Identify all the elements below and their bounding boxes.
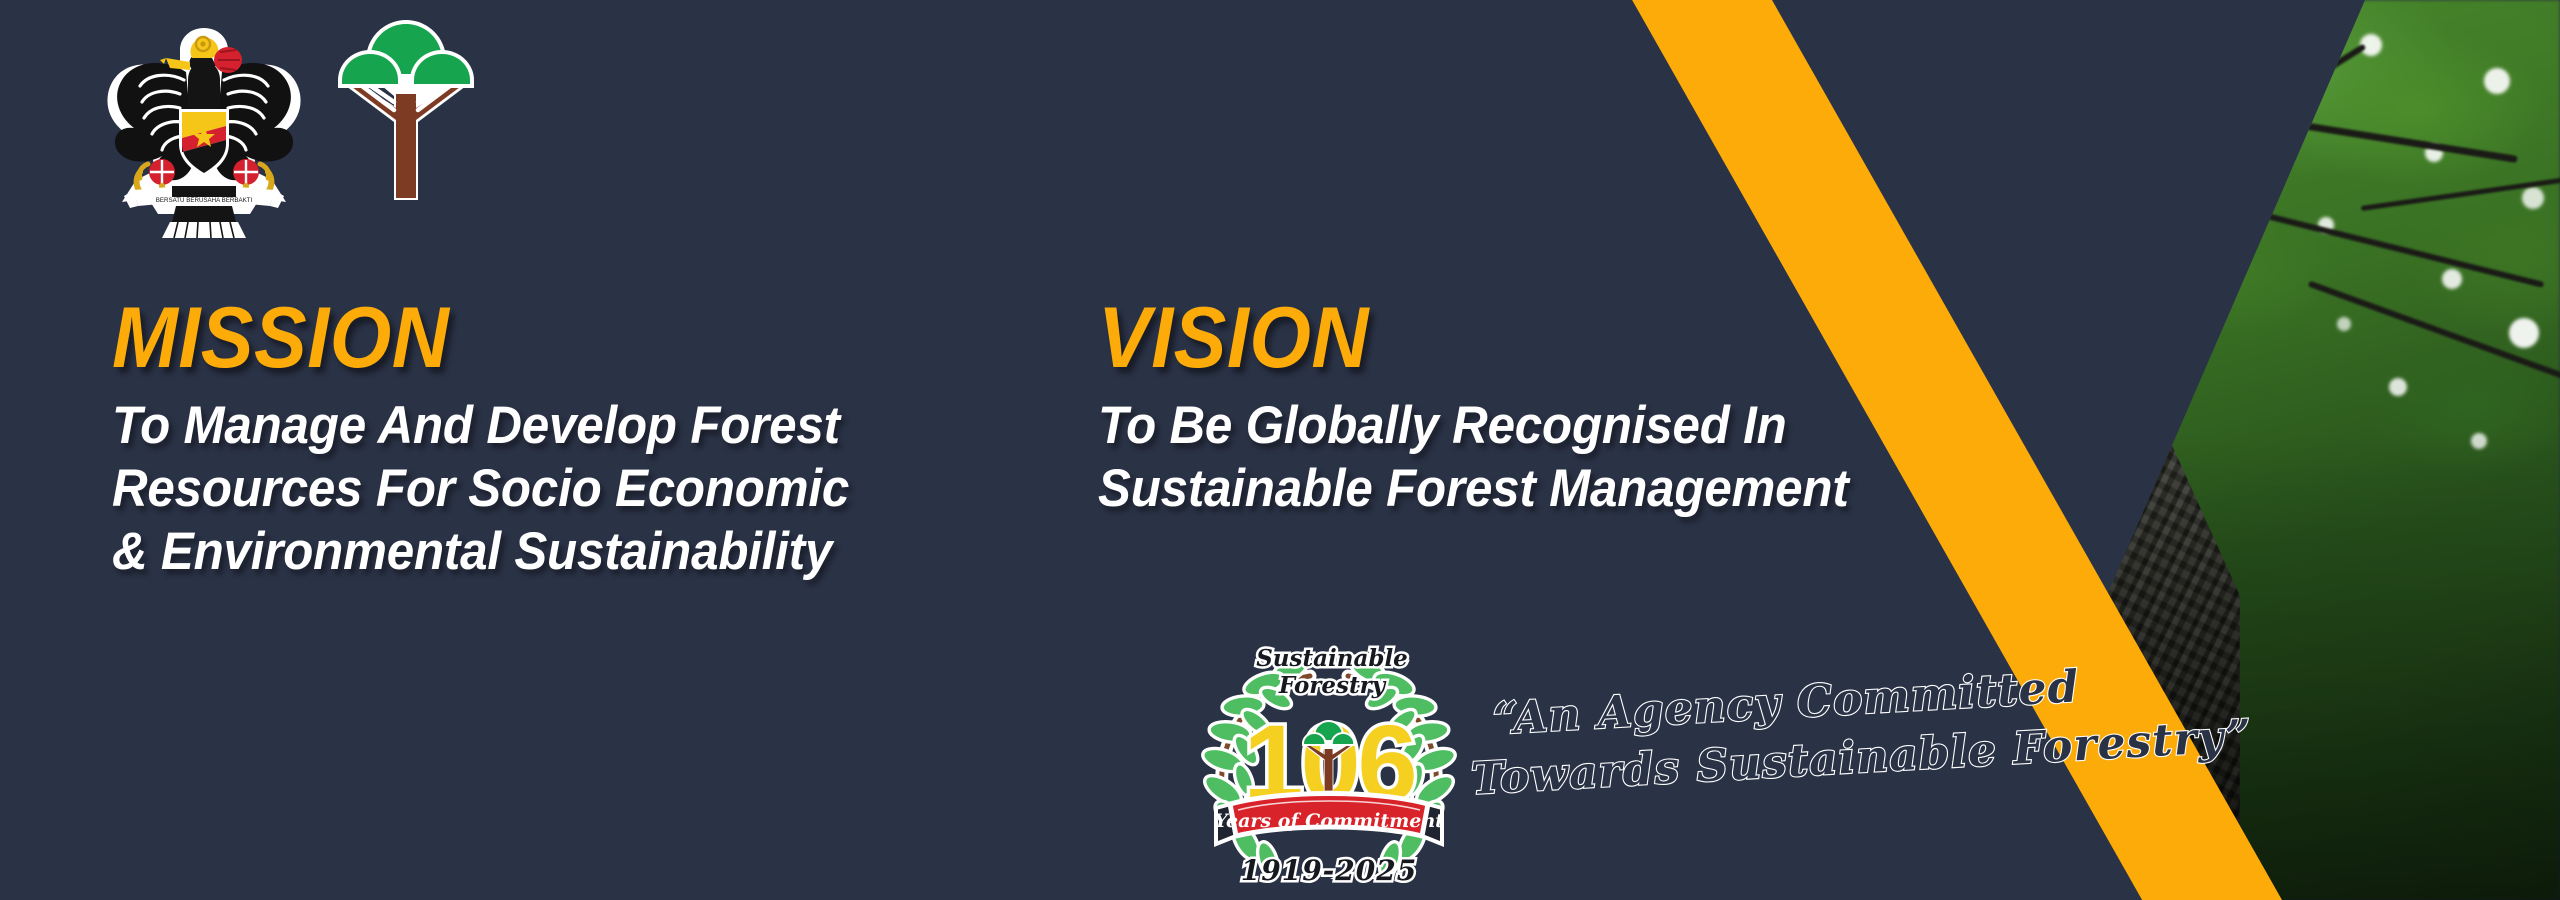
mission-vision-banner: BERSATU BERUSAHA BERBAKTI MISSION To Man… [0,0,2560,900]
vision-line-1: To Be Globally Recognised In [1098,394,1954,457]
vision-heading: VISION [1098,296,1944,380]
emblem-ribbon-text: Years of Commitment [1214,810,1444,832]
emblem-top-line1: Sustainable [1256,645,1408,672]
mission-heading: MISSION [112,296,940,380]
tagline: “An Agency Committed Towards Sustainable… [1468,682,2088,822]
sarawak-coat-of-arms-icon: BERSATU BERUSAHA BERBAKTI [100,14,308,238]
vision-block: VISION To Be Globally Recognised In Sust… [1098,296,2018,520]
crest-motto: BERSATU BERUSAHA BERBAKTI [156,197,253,204]
mission-line-2: Resources For Socio Economic [112,457,949,520]
mission-block: MISSION To Manage And Develop Forest Res… [112,296,1012,583]
anniversary-emblem-106: Sustainable Forestry 106 Years of Commit… [1186,622,1472,900]
mission-line-3: & Environmental Sustainability [112,520,949,583]
forest-tree-logo-icon [332,14,480,204]
mission-line-1: To Manage And Develop Forest [112,394,949,457]
logo-row: BERSATU BERUSAHA BERBAKTI [100,14,480,238]
emblem-years: 1919-2025 [1241,854,1417,887]
vision-line-2: Sustainable Forest Management [1098,457,1954,520]
emblem-top-line2: Forestry [1278,672,1387,699]
